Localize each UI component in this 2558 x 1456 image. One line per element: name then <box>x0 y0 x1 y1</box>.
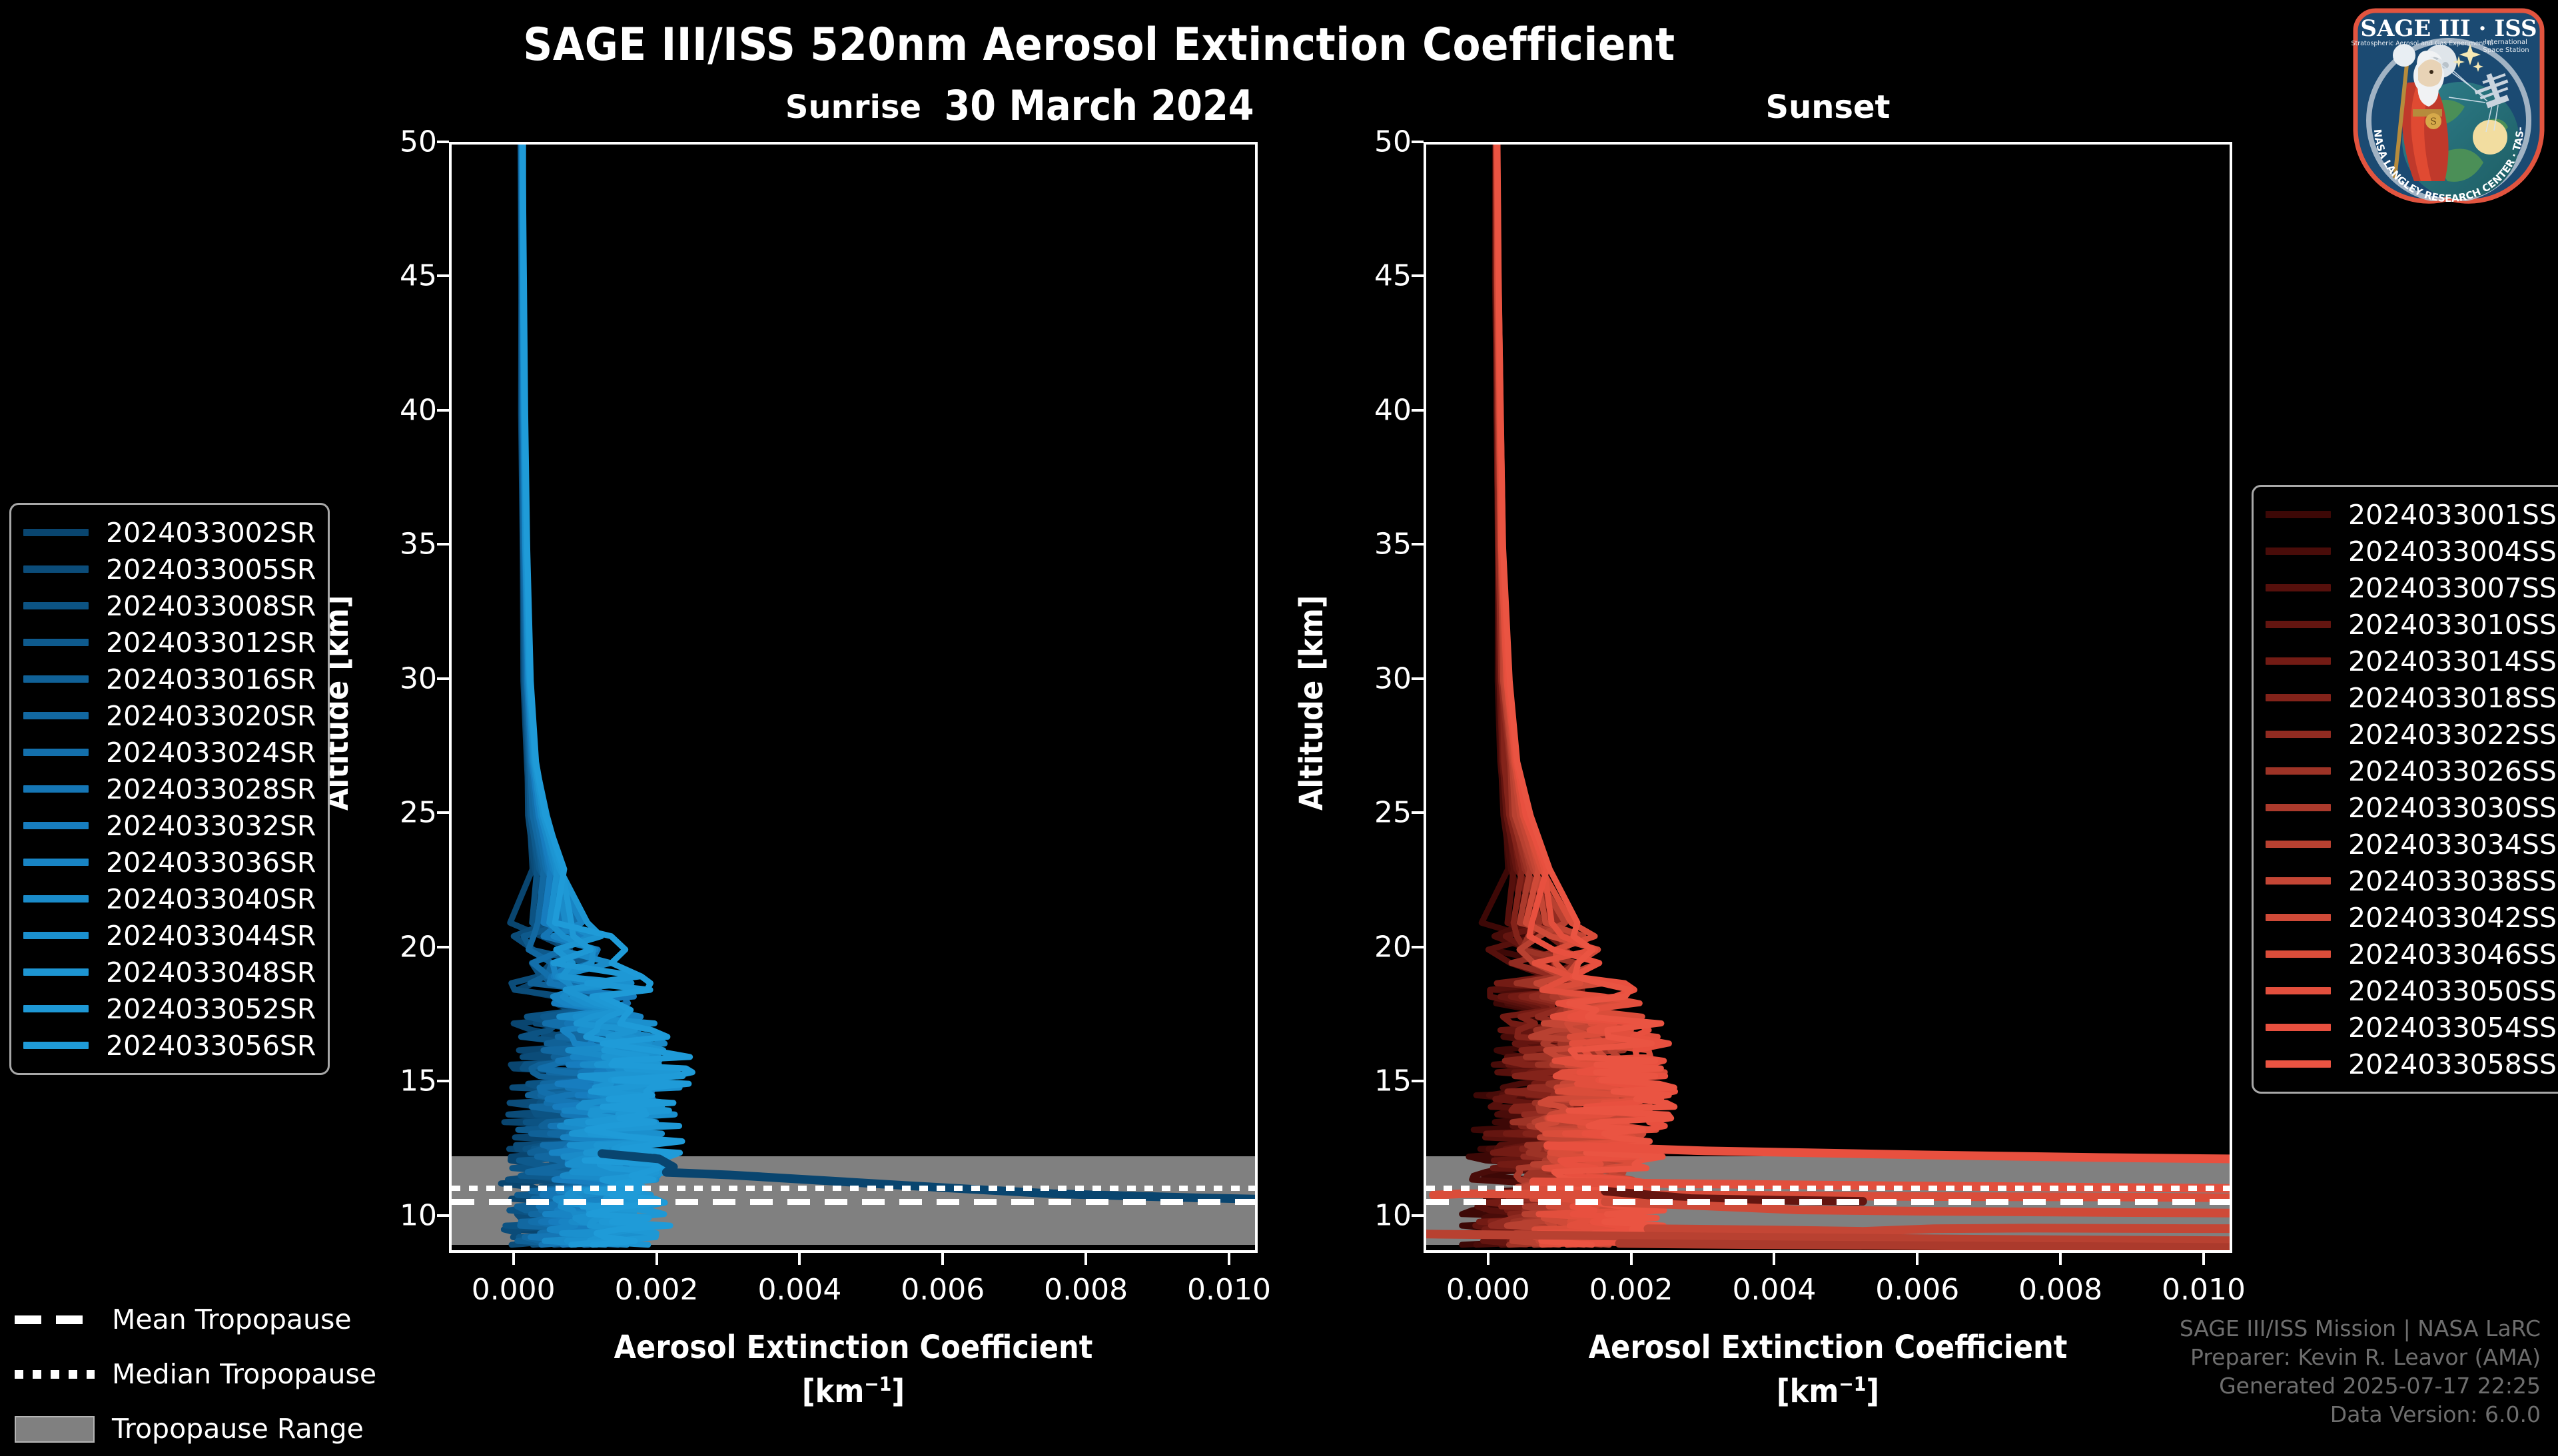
profile-curves <box>452 145 1255 1250</box>
x-tick-label: 0.004 <box>1732 1273 1816 1307</box>
mean-tropopause-swatch <box>15 1315 95 1324</box>
y-tick-mark <box>1412 1214 1424 1217</box>
legend-label: 2024033020SR <box>106 700 316 732</box>
legend-color-swatch <box>23 932 89 939</box>
tropopause-legend: Mean TropopauseMedian TropopauseTropopau… <box>15 1292 376 1456</box>
tropopause-legend-marker <box>15 1420 95 1437</box>
credits-line: Generated 2025-07-17 22:25 <box>2180 1372 2541 1401</box>
y-tick-mark <box>1412 543 1424 546</box>
outlier-profile-line <box>1648 1228 2230 1232</box>
legend-color-swatch <box>2266 731 2331 738</box>
legend-item[interactable]: 2024033024SR <box>23 734 316 771</box>
profile-curves <box>1426 145 2230 1250</box>
legend-label: 2024033016SR <box>106 663 316 695</box>
x-axis-unit: [km−1] <box>1777 1373 1879 1410</box>
legend-label: 2024033048SR <box>106 956 316 988</box>
x-axis-title: Aerosol Extinction Coefficient <box>1424 1329 2232 1366</box>
legend-color-swatch <box>2266 511 2331 518</box>
y-tick-label: 45 <box>1338 259 1412 293</box>
legend-label: 2024033040SR <box>106 883 316 915</box>
y-tick-label: 25 <box>364 796 437 830</box>
plot-area <box>449 142 1258 1253</box>
legend-color-swatch <box>23 565 89 573</box>
y-tick-mark <box>437 677 449 680</box>
x-tick-label: 0.006 <box>901 1273 985 1307</box>
y-tick-mark <box>1412 677 1424 680</box>
y-tick-label: 10 <box>364 1198 437 1232</box>
legend-label: 2024033030SS <box>2348 792 2557 824</box>
y-tick-mark <box>437 946 449 948</box>
svg-text:S: S <box>2430 117 2437 127</box>
legend-label: 2024033058SS <box>2348 1048 2557 1080</box>
legend-item[interactable]: 2024033058SS <box>2266 1046 2557 1082</box>
legend-item[interactable]: 2024033030SS <box>2266 789 2557 826</box>
y-tick-mark <box>437 1214 449 1217</box>
y-tick-mark <box>437 1080 449 1082</box>
legend-color-swatch <box>2266 877 2331 885</box>
legend-color-swatch <box>23 822 89 829</box>
x-tick-mark <box>2059 1253 2062 1265</box>
legend-label: 2024033046SS <box>2348 938 2557 970</box>
credits-block: SAGE III/ISS Mission | NASA LaRCPreparer… <box>2180 1315 2541 1429</box>
logo-title: SAGE III · ISS <box>2360 15 2537 42</box>
legend-color-swatch <box>23 602 89 609</box>
legend-item[interactable]: 2024033014SS <box>2266 643 2557 679</box>
tropopause-legend-item: Median Tropopause <box>15 1347 376 1401</box>
legend-item[interactable]: 2024033048SR <box>23 954 316 990</box>
legend-color-swatch <box>2266 767 2331 775</box>
legend-label: 2024033044SR <box>106 920 316 952</box>
panel-title-sunset: Sunset <box>1424 89 2232 126</box>
x-tick-label: 0.002 <box>615 1273 699 1307</box>
median-tropopause-line <box>452 1186 1255 1191</box>
legend-color-swatch <box>23 712 89 719</box>
logo-subtitle-left: Stratospheric Aerosol and Gas Experiment… <box>2351 40 2493 47</box>
x-tick-mark <box>1916 1253 1918 1265</box>
y-tick-label: 15 <box>1338 1064 1412 1098</box>
y-tick-label: 35 <box>364 528 437 561</box>
legend-label: 2024033050SS <box>2348 975 2557 1007</box>
legend-color-swatch <box>2266 914 2331 921</box>
legend-color-swatch <box>2266 584 2331 591</box>
y-tick-mark <box>1412 946 1424 948</box>
legend-item[interactable]: 2024033007SS <box>2266 569 2557 606</box>
x-axis-unit: [km−1] <box>802 1373 905 1410</box>
y-tick-mark <box>437 543 449 546</box>
legend-color-swatch <box>23 675 89 683</box>
legend-color-swatch <box>2266 621 2331 628</box>
x-tick-mark <box>1228 1253 1230 1265</box>
legend-color-swatch <box>23 749 89 756</box>
legend-label: 2024033056SR <box>106 1030 316 1062</box>
y-tick-mark <box>1412 141 1424 143</box>
tropopause-legend-marker <box>15 1365 95 1383</box>
y-tick-label: 35 <box>1338 528 1412 561</box>
legend-item[interactable]: 2024033042SS <box>2266 899 2557 936</box>
legend-color-swatch <box>23 895 89 903</box>
y-tick-label: 50 <box>364 125 437 159</box>
x-tick-mark <box>512 1253 515 1265</box>
legend-color-swatch <box>2266 1060 2331 1068</box>
legend-color-swatch <box>23 1005 89 1012</box>
sage-iii-iss-logo: S SAGE III · ISS Stratospheric Aerosol a… <box>2349 4 2549 204</box>
legend-item[interactable]: 2024033012SR <box>23 624 316 661</box>
x-tick-label: 0.008 <box>2018 1273 2102 1307</box>
page-title: SAGE III/ISS 520nm Aerosol Extinction Co… <box>0 19 2198 71</box>
legend-label: 2024033005SR <box>106 553 316 585</box>
x-tick-label: 0.000 <box>1446 1273 1530 1307</box>
legend-sunrise[interactable]: 2024033002SR2024033005SR2024033008SR2024… <box>9 503 330 1075</box>
legend-item[interactable]: 2024033038SS <box>2266 863 2557 899</box>
y-tick-label: 25 <box>1338 796 1412 830</box>
x-tick-label: 0.008 <box>1044 1273 1128 1307</box>
legend-item[interactable]: 2024033001SS <box>2266 496 2557 533</box>
legend-item[interactable]: 2024033056SR <box>23 1027 316 1064</box>
legend-label: 2024033012SR <box>106 627 316 659</box>
x-tick-mark <box>941 1253 944 1265</box>
tropopause-legend-marker <box>15 1311 95 1328</box>
legend-item[interactable]: 2024033044SR <box>23 917 316 954</box>
x-tick-label: 0.006 <box>1875 1273 1959 1307</box>
legend-color-swatch <box>2266 950 2331 958</box>
y-tick-label: 40 <box>1338 393 1412 427</box>
y-tick-label: 20 <box>364 930 437 964</box>
y-tick-label: 20 <box>1338 930 1412 964</box>
credits-line: Preparer: Kevin R. Leavor (AMA) <box>2180 1343 2541 1372</box>
logo-subtitle-right-2: Space Station <box>2483 47 2529 54</box>
legend-color-swatch <box>23 639 89 646</box>
legend-item[interactable]: 2024033054SS <box>2266 1009 2557 1046</box>
x-tick-mark <box>1487 1253 1490 1265</box>
legend-item[interactable]: 2024033020SR <box>23 697 316 734</box>
y-tick-label: 10 <box>1338 1198 1412 1232</box>
legend-sunset[interactable]: 2024033001SS2024033004SS2024033007SS2024… <box>2252 485 2558 1094</box>
legend-item[interactable]: 2024033052SR <box>23 990 316 1027</box>
legend-label: 2024033010SS <box>2348 609 2557 641</box>
y-tick-mark <box>437 409 449 412</box>
legend-color-swatch <box>2266 987 2331 994</box>
x-tick-label: 0.010 <box>2162 1273 2246 1307</box>
tropopause-legend-label: Tropopause Range <box>112 1413 364 1445</box>
legend-color-swatch <box>2266 1024 2331 1031</box>
median-tropopause-swatch <box>15 1370 95 1379</box>
x-tick-label: 0.004 <box>757 1273 841 1307</box>
y-tick-mark <box>1412 409 1424 412</box>
legend-color-swatch <box>2266 547 2331 555</box>
legend-item[interactable]: 2024033002SR <box>23 514 316 551</box>
y-tick-mark <box>1412 811 1424 814</box>
legend-item[interactable]: 2024033032SR <box>23 807 316 844</box>
legend-color-swatch <box>23 859 89 866</box>
legend-label: 2024033004SS <box>2348 536 2557 567</box>
legend-item[interactable]: 2024033036SR <box>23 844 316 881</box>
mean-tropopause-line <box>452 1199 1255 1205</box>
legend-item[interactable]: 2024033008SR <box>23 587 316 624</box>
tropopause-legend-label: Mean Tropopause <box>112 1303 352 1335</box>
y-tick-mark <box>437 141 449 143</box>
outlier-profile-line <box>1619 1244 2230 1248</box>
legend-label: 2024033038SS <box>2348 865 2557 897</box>
median-tropopause-line <box>1426 1186 2230 1191</box>
x-tick-label: 0.000 <box>472 1273 556 1307</box>
legend-label: 2024033014SS <box>2348 645 2557 677</box>
legend-color-swatch <box>23 968 89 976</box>
legend-item[interactable]: 2024033026SS <box>2266 753 2557 789</box>
legend-color-swatch <box>23 785 89 793</box>
y-tick-mark <box>1412 1080 1424 1082</box>
tropopause-legend-label: Median Tropopause <box>112 1358 376 1390</box>
legend-label: 2024033024SR <box>106 737 316 769</box>
y-tick-label: 50 <box>1338 125 1412 159</box>
legend-item[interactable]: 2024033018SS <box>2266 679 2557 716</box>
legend-label: 2024033001SS <box>2348 499 2557 531</box>
x-tick-mark <box>1084 1253 1087 1265</box>
legend-label: 2024033028SR <box>106 773 316 805</box>
y-tick-mark <box>437 811 449 814</box>
legend-label: 2024033032SR <box>106 810 316 842</box>
legend-label: 2024033022SS <box>2348 719 2557 751</box>
legend-item[interactable]: 2024033022SS <box>2266 716 2557 753</box>
legend-label: 2024033036SR <box>106 847 316 879</box>
legend-label: 2024033054SS <box>2348 1012 2557 1044</box>
legend-label: 2024033026SS <box>2348 755 2557 787</box>
legend-item[interactable]: 2024033050SS <box>2266 972 2557 1009</box>
legend-color-swatch <box>2266 657 2331 665</box>
legend-item[interactable]: 2024033040SR <box>23 881 316 917</box>
x-tick-mark <box>1773 1253 1775 1265</box>
x-axis-title: Aerosol Extinction Coefficient <box>449 1329 1258 1366</box>
legend-label: 2024033007SS <box>2348 572 2557 604</box>
legend-color-swatch <box>23 529 89 536</box>
credits-line: SAGE III/ISS Mission | NASA LaRC <box>2180 1315 2541 1343</box>
x-tick-label: 0.010 <box>1187 1273 1271 1307</box>
legend-color-swatch <box>2266 841 2331 848</box>
logo-subtitle-right-1: International <box>2485 39 2527 46</box>
y-tick-mark <box>1412 274 1424 277</box>
panel-title-sunrise: Sunrise <box>449 89 1258 126</box>
y-tick-label: 30 <box>364 661 437 695</box>
legend-label: 2024033042SS <box>2348 902 2557 934</box>
x-tick-mark <box>2202 1253 2205 1265</box>
credits-line: Data Version: 6.0.0 <box>2180 1401 2541 1429</box>
legend-color-swatch <box>2266 804 2331 811</box>
legend-item[interactable]: 2024033004SS <box>2266 533 2557 569</box>
mean-tropopause-line <box>1426 1199 2230 1205</box>
legend-color-swatch <box>2266 694 2331 701</box>
legend-item[interactable]: 2024033046SS <box>2266 936 2557 972</box>
x-tick-mark <box>655 1253 658 1265</box>
plot-area <box>1424 142 2232 1253</box>
legend-label: 2024033034SS <box>2348 829 2557 861</box>
legend-color-swatch <box>23 1042 89 1049</box>
y-axis-title: Altitude [km] <box>1293 595 1330 811</box>
tropopause-legend-item: Tropopause Range <box>15 1401 376 1456</box>
legend-label: 2024033002SR <box>106 517 316 549</box>
y-tick-label: 30 <box>1338 661 1412 695</box>
legend-item[interactable]: 2024033005SR <box>23 551 316 587</box>
legend-item[interactable]: 2024033028SR <box>23 771 316 807</box>
tropopause-legend-item: Mean Tropopause <box>15 1292 376 1347</box>
y-tick-label: 40 <box>364 393 437 427</box>
tropopause-range-swatch <box>15 1416 95 1443</box>
legend-item[interactable]: 2024033016SR <box>23 661 316 697</box>
x-tick-label: 0.002 <box>1589 1273 1673 1307</box>
y-tick-label: 45 <box>364 259 437 293</box>
x-tick-mark <box>798 1253 801 1265</box>
legend-label: 2024033018SS <box>2348 682 2557 714</box>
y-tick-mark <box>437 274 449 277</box>
y-tick-label: 15 <box>364 1064 437 1098</box>
legend-label: 2024033052SR <box>106 993 316 1025</box>
x-tick-mark <box>1630 1253 1633 1265</box>
outlier-profile-line <box>602 1154 1255 1200</box>
legend-label: 2024033008SR <box>106 590 316 622</box>
legend-item[interactable]: 2024033010SS <box>2266 606 2557 643</box>
legend-item[interactable]: 2024033034SS <box>2266 826 2557 863</box>
